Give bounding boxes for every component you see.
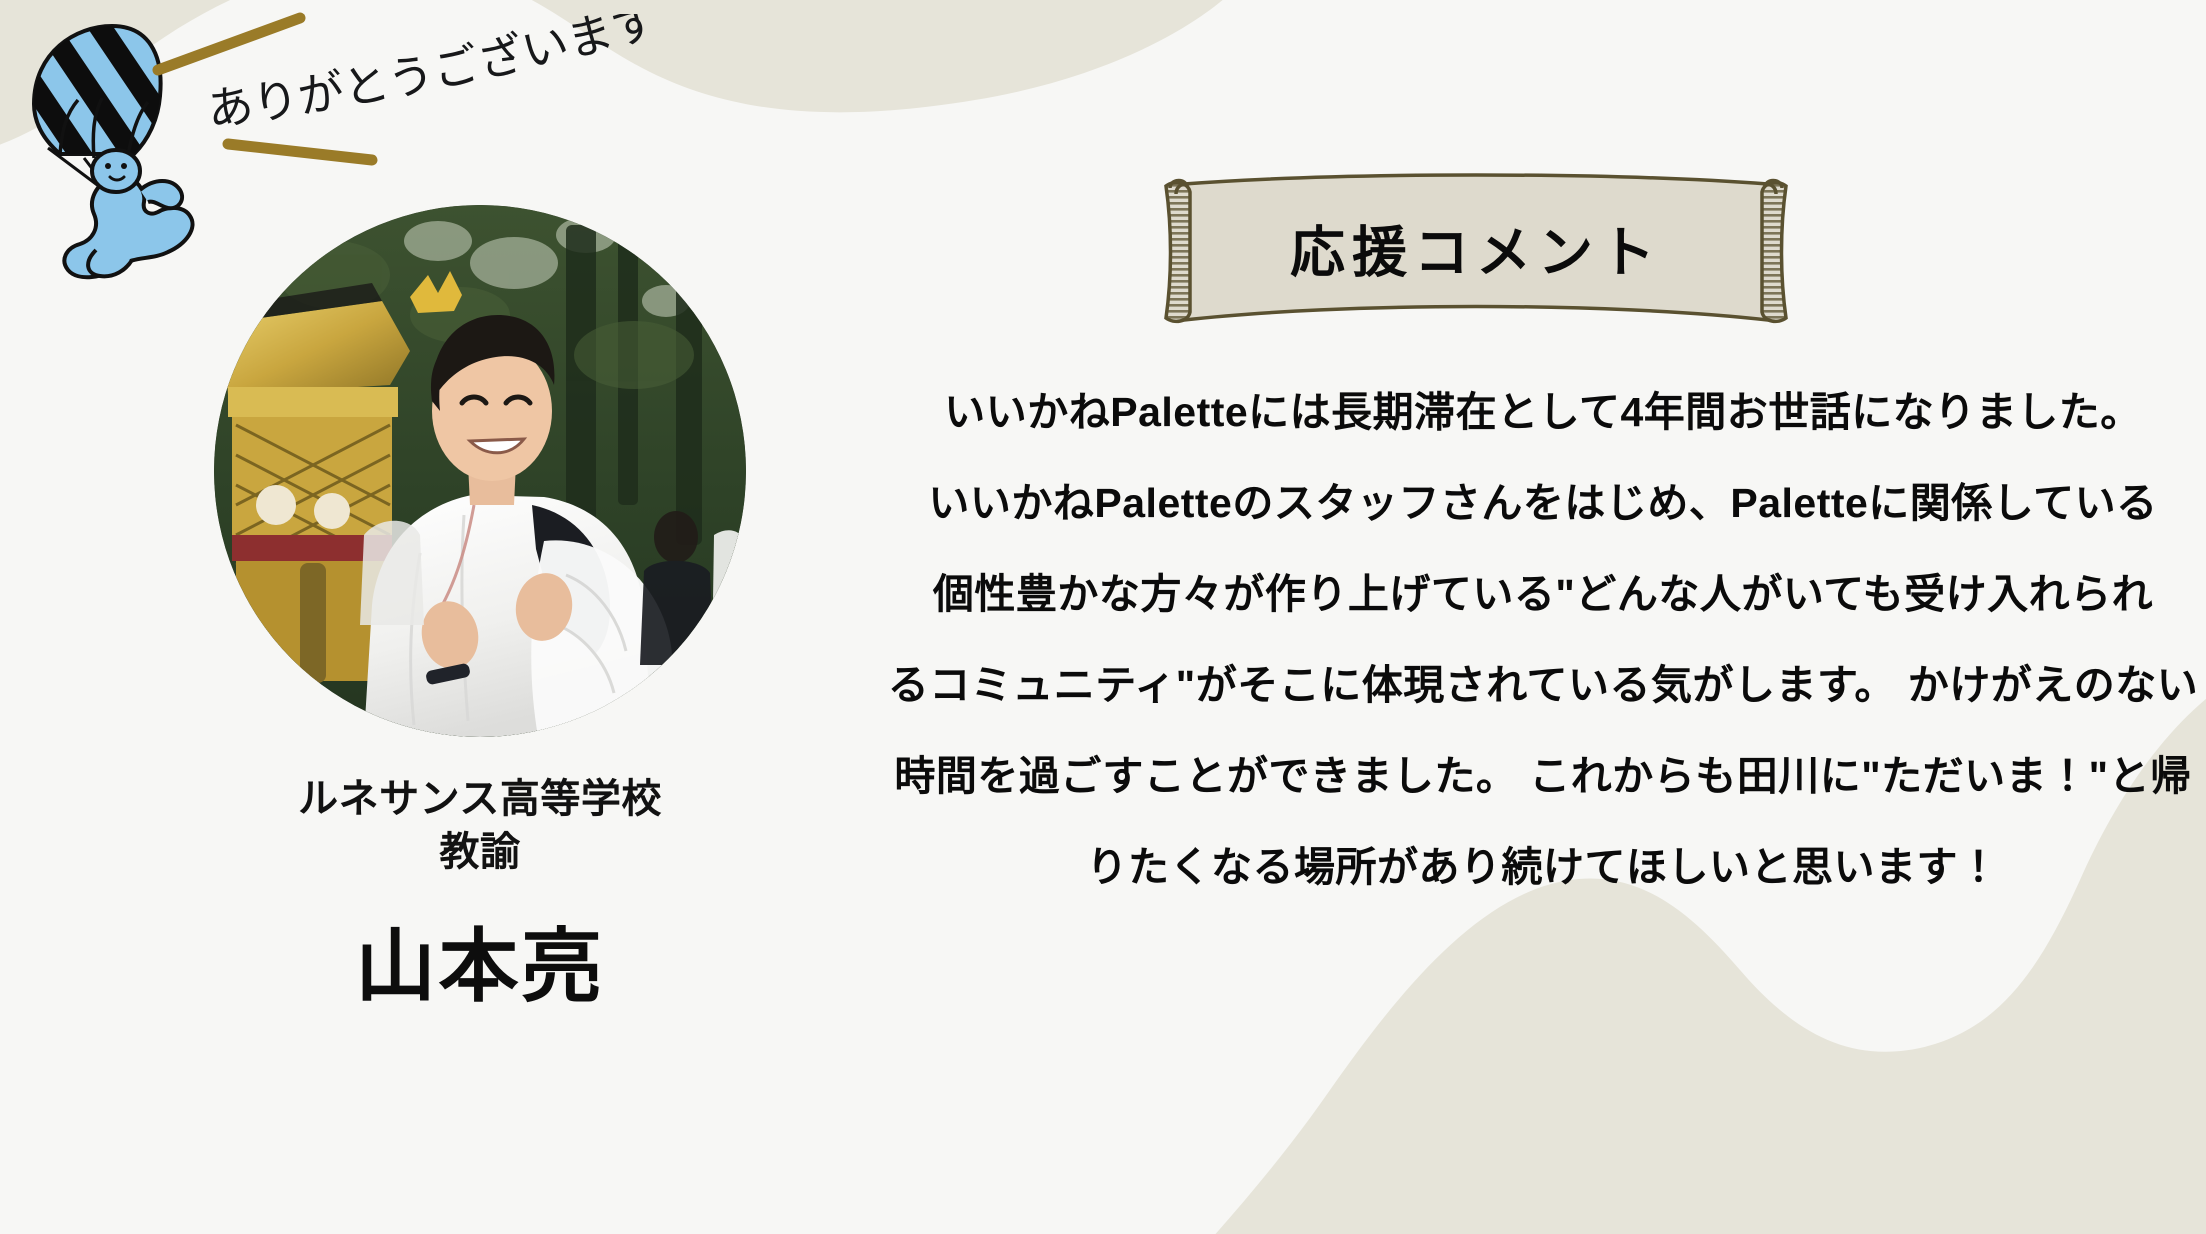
affiliation-line-2: 教諭 — [150, 826, 810, 879]
background-person — [640, 561, 714, 665]
profile-affiliation: ルネサンス高等学校 教諭 — [150, 773, 810, 879]
profile-name: 山本亮 — [150, 925, 810, 1009]
banner-title: 応援コメント — [1146, 207, 1806, 287]
character-eye-right — [121, 163, 127, 169]
comment-line: 個性豊かな方々が作り上げている"どんな人がいても受け入れられ — [880, 574, 2206, 615]
comment-line: りたくなる場所があり続けてほしいと思います！ — [880, 847, 2206, 888]
handwritten-thanks-text: ありがとうございます！ — [200, 14, 663, 137]
portrait-photo-image — [214, 205, 746, 737]
character-head — [92, 150, 140, 192]
character-arm — [140, 181, 182, 208]
comment-line: るコミュニティ"がそこに体現されている気がします。 かけがえのない — [880, 665, 2206, 706]
slide-canvas: ありがとうございます！ — [0, 0, 2206, 1234]
handwritten-thanks: ありがとうございます！ — [200, 14, 820, 144]
comment-body: いいかねPaletteには長期滞在として4年間お世話になりました。 いいかねPa… — [880, 392, 2206, 888]
comment-line: いいかねPaletteには長期滞在として4年間お世話になりました。 — [880, 392, 2206, 433]
comment-line: 時間を過ごすことができました。 これからも田川に"ただいま！"と帰 — [880, 756, 2206, 797]
scroll-banner: 応援コメント — [1146, 170, 1806, 328]
character-eye-left — [105, 163, 111, 169]
comment-line: いいかねPaletteのスタッフさんをはじめ、Paletteに関係している — [880, 483, 2206, 524]
affiliation-line-1: ルネサンス高等学校 — [150, 773, 810, 826]
portrait-photo — [214, 205, 746, 737]
profile-block: ルネサンス高等学校 教諭 山本亮 — [150, 205, 810, 1009]
